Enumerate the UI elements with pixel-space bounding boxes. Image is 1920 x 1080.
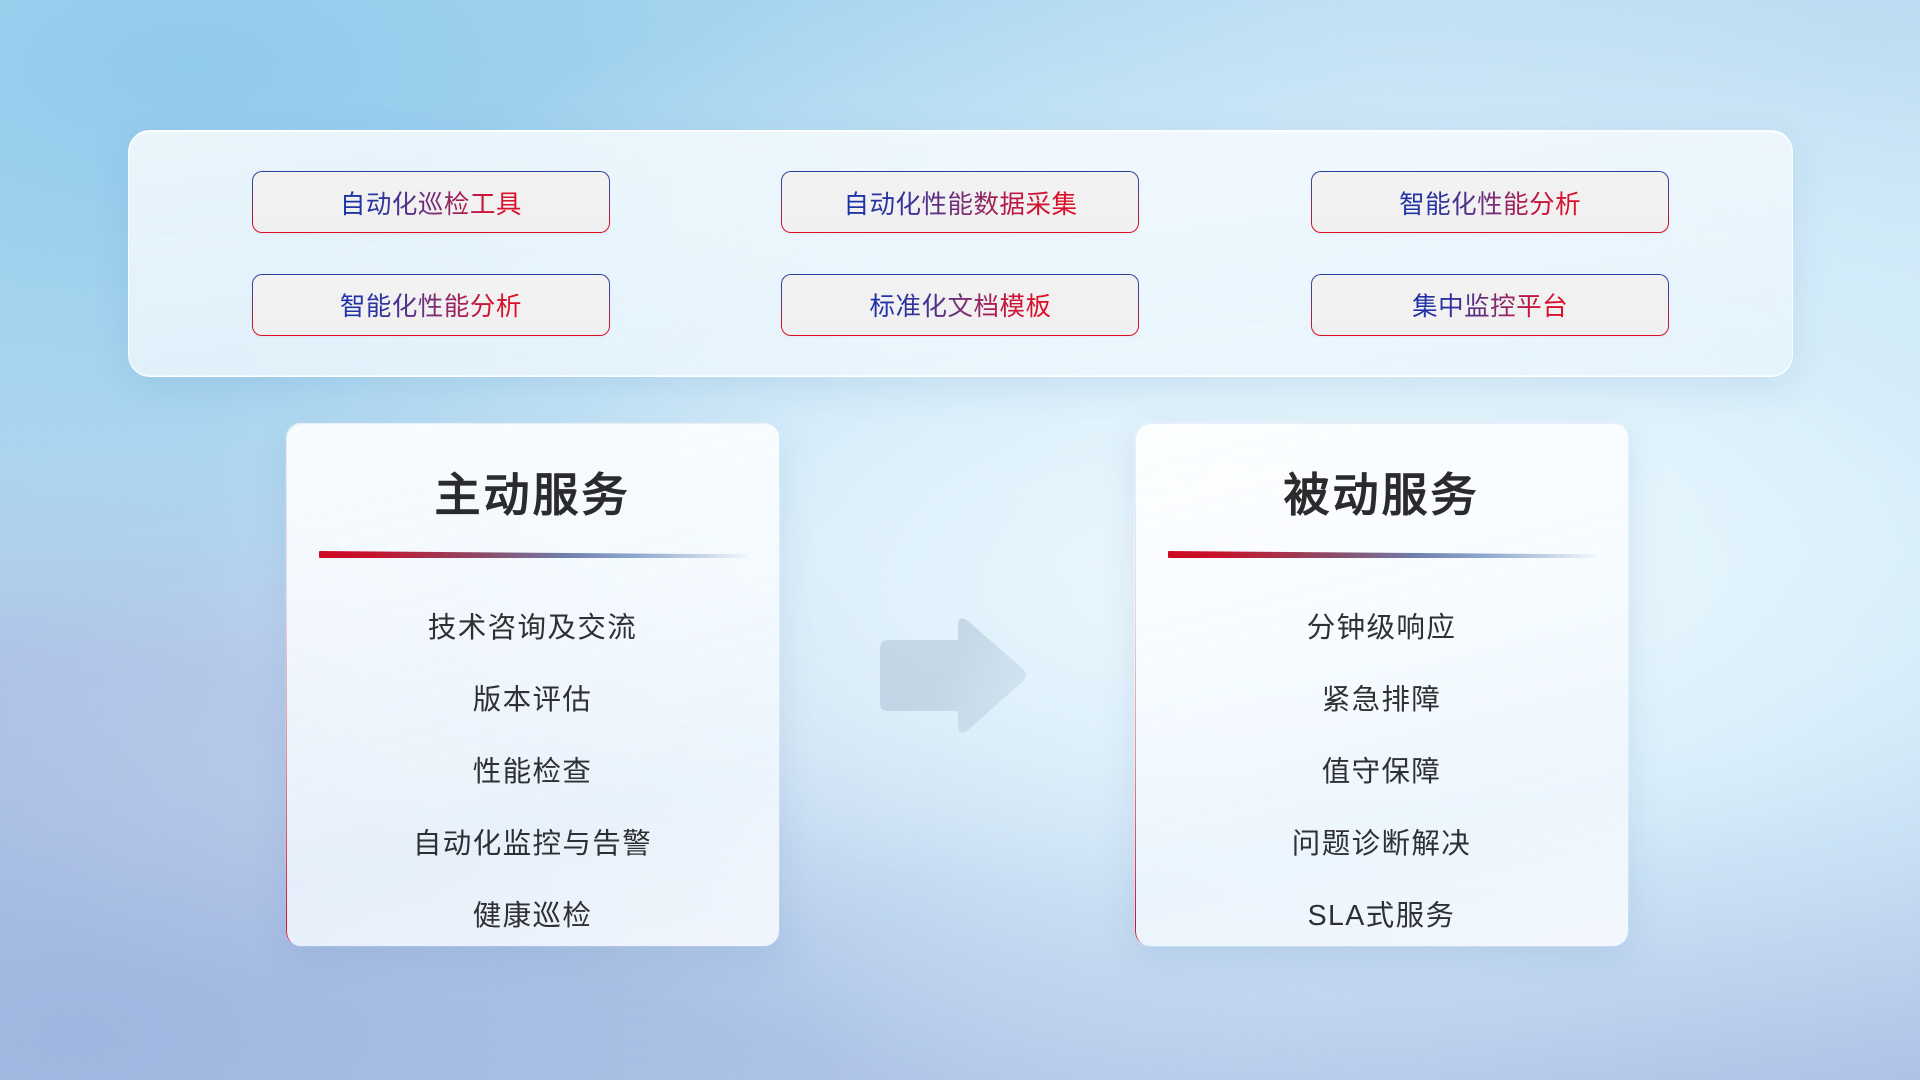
- service-list-item: 版本评估: [473, 664, 593, 736]
- service-list-item: 技术咨询及交流: [428, 592, 637, 664]
- service-list-item: 分钟级响应: [1307, 592, 1457, 664]
- service-card-title: 主动服务: [286, 459, 779, 525]
- capability-tag-label: 智能化性能分析: [1399, 184, 1581, 221]
- service-list-item: 健康巡检: [473, 880, 593, 947]
- service-list-item: SLA式服务: [1308, 880, 1456, 947]
- service-list-item: 性能检查: [473, 736, 593, 808]
- capability-tag-label: 标准化文档模板: [869, 286, 1051, 323]
- service-list-item: 值守保障: [1322, 736, 1442, 808]
- service-card-proactive: 主动服务 技术咨询及交流 版本评估 性能检查 自动化监控与告警 健康巡检: [285, 422, 780, 947]
- service-card-reactive: 被动服务 分钟级响应 紧急排障 值守保障 问题诊断解决 SLA式服务: [1134, 422, 1629, 947]
- capability-tag-intelligent-perf-analysis-a[interactable]: 智能化性能分析: [1311, 171, 1669, 233]
- capability-tag-label: 智能化性能分析: [340, 286, 522, 323]
- capability-tag-central-monitoring-platform[interactable]: 集中监控平台: [1311, 274, 1669, 336]
- service-item-list: 技术咨询及交流 版本评估 性能检查 自动化监控与告警 健康巡检: [286, 592, 779, 947]
- capability-tag-label: 自动化性能数据采集: [843, 184, 1077, 221]
- title-divider-rule: [319, 551, 747, 558]
- capability-tag-label: 自动化巡检工具: [340, 184, 522, 221]
- capability-tag-standard-doc-template[interactable]: 标准化文档模板: [781, 274, 1139, 336]
- service-list-item: 紧急排障: [1322, 664, 1442, 736]
- service-card-title: 被动服务: [1135, 459, 1628, 525]
- capability-tags-panel: 自动化巡检工具 自动化性能数据采集 智能化性能分析 智能化性能分析 标准化文档模…: [128, 130, 1793, 377]
- capability-tag-auto-perf-data-collection[interactable]: 自动化性能数据采集: [781, 171, 1139, 233]
- service-item-list: 分钟级响应 紧急排障 值守保障 问题诊断解决 SLA式服务: [1135, 592, 1628, 947]
- capability-tags-grid: 自动化巡检工具 自动化性能数据采集 智能化性能分析 智能化性能分析 标准化文档模…: [129, 131, 1792, 376]
- service-list-item: 自动化监控与告警: [413, 808, 652, 880]
- service-list-item: 问题诊断解决: [1292, 808, 1471, 880]
- capability-tag-auto-inspection-tool[interactable]: 自动化巡检工具: [252, 171, 610, 233]
- title-divider-rule: [1168, 551, 1596, 558]
- capability-tag-intelligent-perf-analysis-b[interactable]: 智能化性能分析: [252, 274, 610, 336]
- capability-tag-label: 集中监控平台: [1412, 286, 1568, 323]
